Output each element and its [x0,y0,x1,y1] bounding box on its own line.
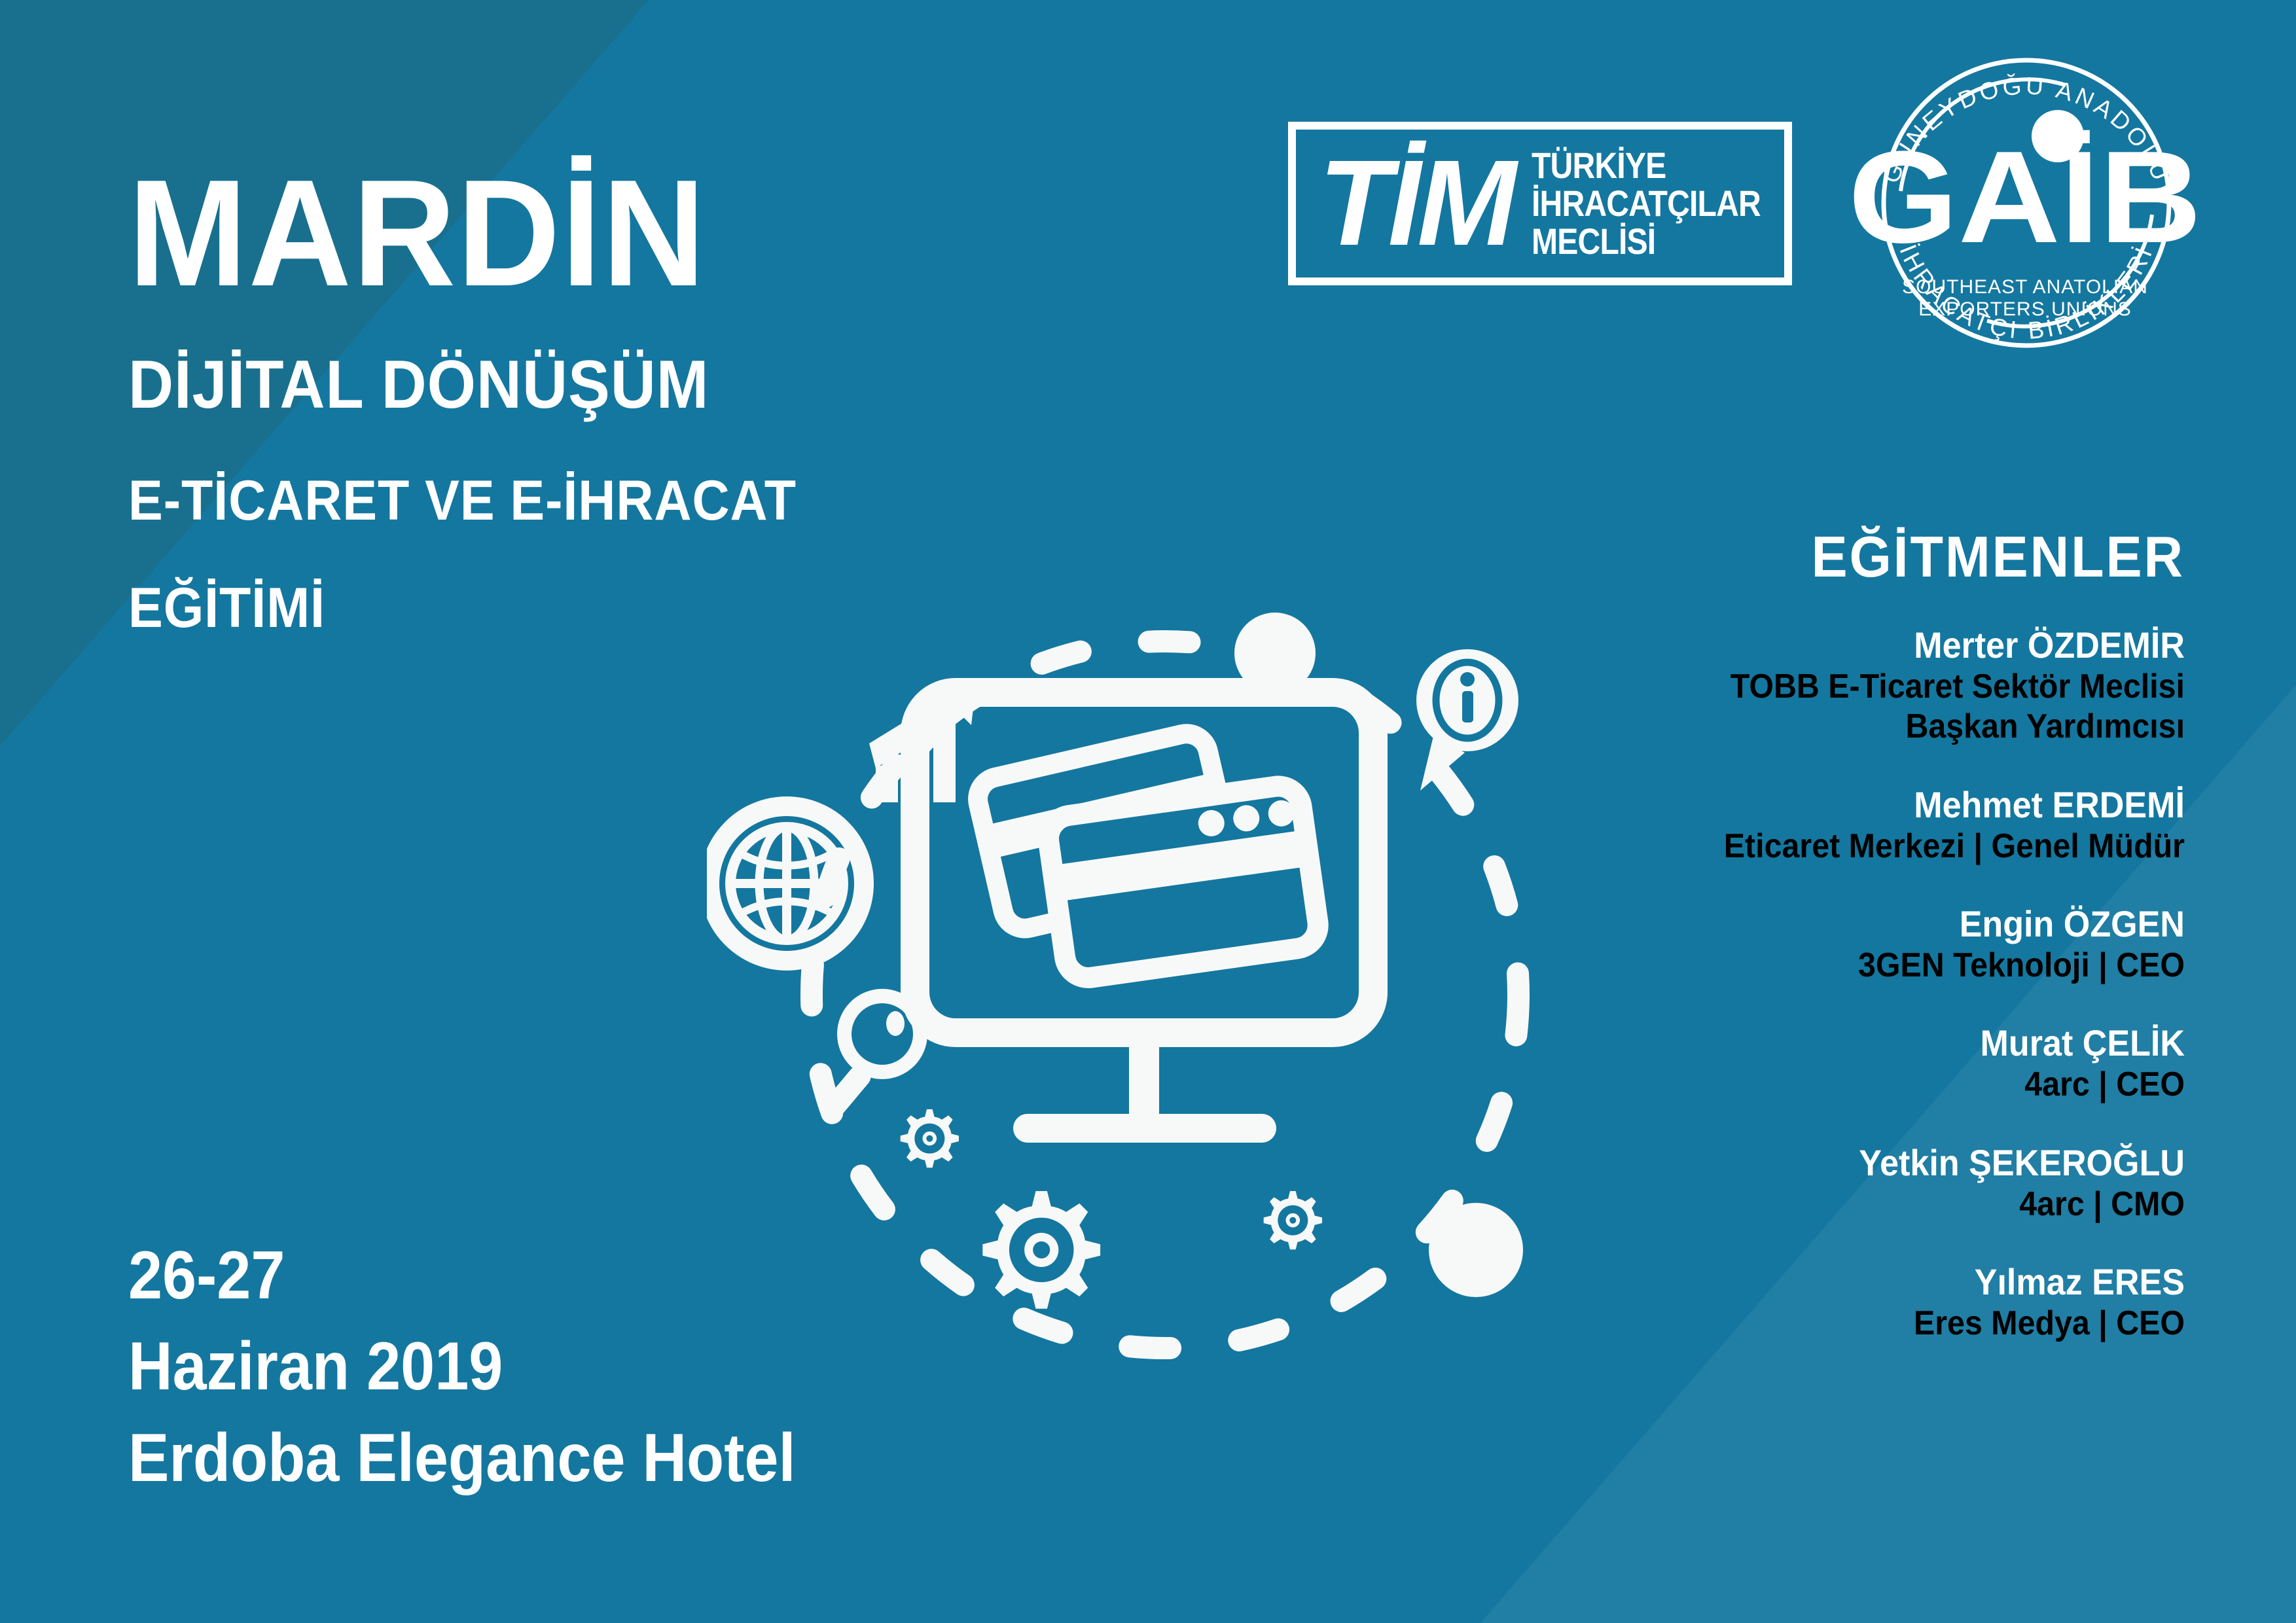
tim-logo-line-3: MECLİSİ [1532,223,1761,260]
info-bubble-icon [1416,649,1518,791]
gaib-subtitle-line-2: EXPORTERS UNIONS [1918,298,2132,320]
tim-logo-text: TÜRKİYE İHRACATÇILAR MECLİSİ [1532,147,1761,260]
ecommerce-illustration [707,537,1636,1466]
event-venue: Erdoba Elegance Hotel [128,1413,795,1504]
tim-logo: TİM TÜRKİYE İHRACATÇILAR MECLİSİ [1288,122,1792,285]
gaib-subtitle-line-1: SOUTHEAST ANATOLIAN [1902,276,2148,298]
tim-logo-line-1: TÜRKİYE [1532,147,1761,185]
orbit-dot-bottom-icon [1429,1203,1523,1297]
headline-subtitle-1: DİJİTAL DÖNÜŞÜM [128,351,797,419]
page-title: MARDİN [128,162,811,305]
tim-wordmark: TİM [1319,155,1513,253]
gear-icon [982,1191,1100,1309]
globe-icon [709,806,864,961]
poster-canvas: MARDİN DİJİTAL DÖNÜŞÜM E-TİCARET VE E-İH… [0,0,2296,1623]
gaib-logo: GÜNEYDOĞU ANADOLU İHRACATÇI BİRLİKLERİ G… [1850,26,2203,366]
credit-cards-icon [973,729,1321,980]
gaib-seal-icon: GÜNEYDOĞU ANADOLU İHRACATÇI BİRLİKLERİ G… [1850,26,2203,366]
event-month-year: Haziran 2019 [128,1321,795,1412]
event-dates: 26-27 [128,1230,795,1321]
gaib-center-wordmark: GAİB [1850,124,2202,270]
headline-subtitle-3: EĞİTİMİ [128,580,797,636]
gear-icon [901,1109,959,1168]
gaib-dot-icon [2032,110,2084,162]
magnifying-glass-icon [817,996,920,1124]
headline-subtitle-2: E-TİCARET VE E-İHRACAT [128,473,797,529]
tim-logo-line-2: İHRACATÇILAR [1532,185,1761,223]
gear-icon [1264,1191,1322,1249]
